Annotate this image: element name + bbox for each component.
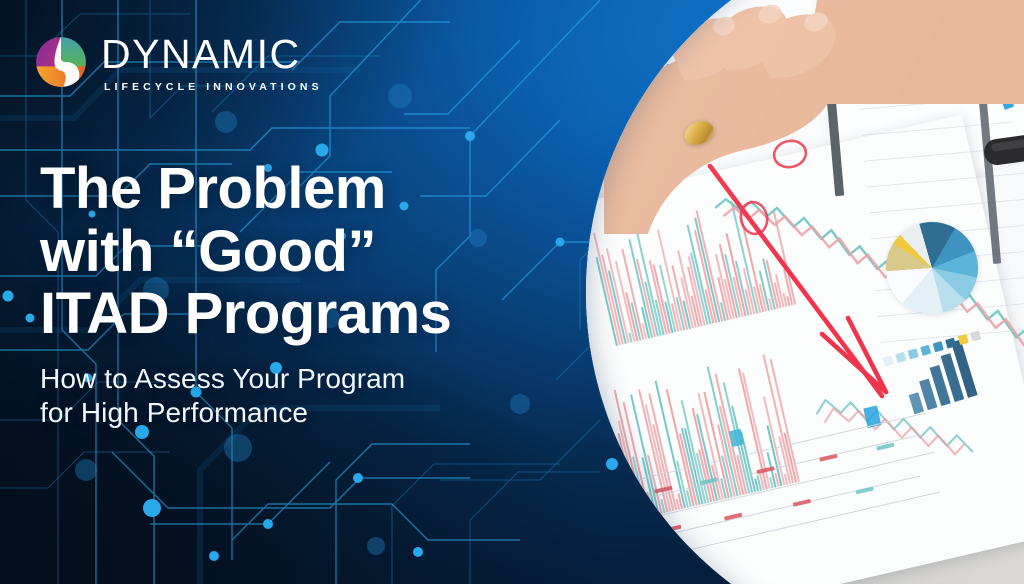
- hero-photo: [586, 0, 1024, 584]
- page-subtitle: How to Assess Your Program for High Perf…: [40, 362, 580, 430]
- hero-copy: The Problem with “Good” ITAD Programs Ho…: [40, 158, 580, 430]
- brand-name: DYNAMIC: [101, 34, 323, 75]
- brand-logo[interactable]: DYNAMIC LIFECYCLE INNOVATIONS: [34, 32, 323, 93]
- hero-banner: DYNAMIC LIFECYCLE INNOVATIONS The Proble…: [0, 0, 1024, 584]
- page-title: The Problem with “Good” ITAD Programs: [40, 158, 580, 346]
- dynamic-circle-logo-icon: [34, 35, 88, 89]
- headline-line-3: ITAD Programs: [40, 281, 451, 346]
- brand-wordmark: DYNAMIC LIFECYCLE INNOVATIONS: [101, 32, 323, 93]
- subhead-line-1: How to Assess Your Program: [40, 363, 405, 394]
- headline-line-1: The Problem: [40, 156, 386, 221]
- hand-holding-magnifier: [604, 0, 904, 262]
- headline-line-2: with “Good”: [40, 219, 376, 284]
- hero-photo-circle: [586, 0, 1024, 584]
- subhead-line-2: for High Performance: [40, 397, 308, 428]
- brand-tagline: LIFECYCLE INNOVATIONS: [104, 82, 323, 93]
